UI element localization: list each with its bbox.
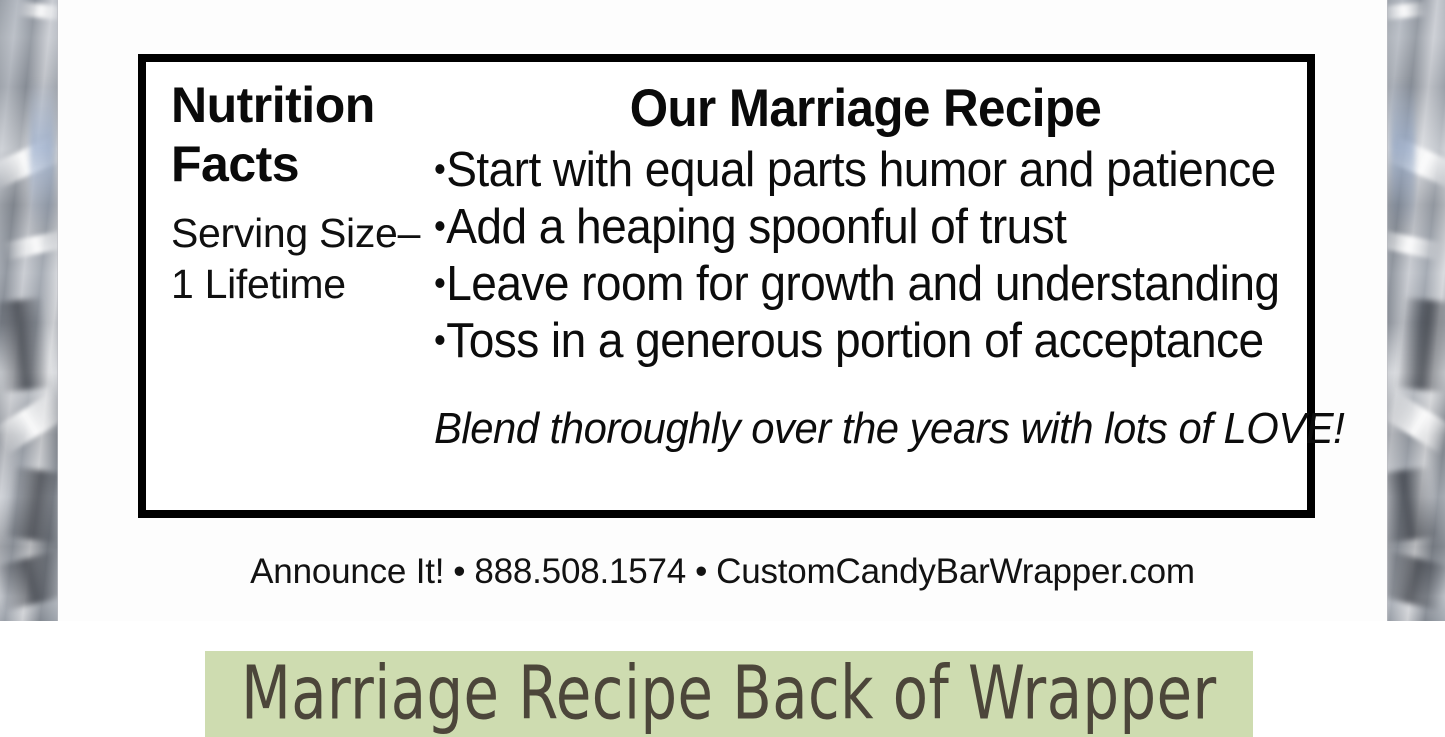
recipe-step-list: Start with equal parts humor and patienc… — [434, 141, 1297, 369]
wrapper-footer-line: Announce It!•888.508.1574•CustomCandyBar… — [58, 552, 1387, 592]
candy-bar-wrapper-photo: Nutrition Facts Serving Size– 1 Lifetime… — [0, 0, 1445, 621]
recipe-closing-line: Blend thoroughly over the years with lot… — [434, 407, 1254, 451]
recipe-step-item: Leave room for growth and understanding — [434, 255, 1245, 312]
foil-end-right — [1385, 0, 1445, 621]
footer-separator-2: • — [686, 552, 716, 591]
footer-separator-1: • — [444, 552, 474, 591]
recipe-step-item: Add a heaping spoonful of trust — [434, 198, 1245, 255]
footer-phone-number: 888.508.1574 — [474, 552, 686, 591]
footer-website-url: CustomCandyBarWrapper.com — [716, 552, 1195, 591]
serving-size-block: Serving Size– 1 Lifetime — [171, 208, 416, 310]
foil-blue-tint-left — [30, 80, 54, 230]
recipe-step-item: Start with equal parts humor and patienc… — [434, 141, 1245, 198]
wrapper-label-face: Nutrition Facts Serving Size– 1 Lifetime… — [58, 0, 1387, 621]
foil-blue-tint-right — [1391, 80, 1415, 230]
foil-shadow-left-1 — [0, 298, 53, 393]
serving-size-label: Serving Size– — [171, 208, 416, 259]
nutrition-facts-block: Nutrition Facts Serving Size– 1 Lifetime — [171, 76, 421, 310]
foil-shadow-left-2 — [3, 466, 60, 543]
marriage-recipe-block: Our Marriage Recipe Start with equal par… — [434, 82, 1297, 451]
footer-brand-name: Announce It! — [250, 552, 444, 591]
recipe-title: Our Marriage Recipe — [464, 82, 1267, 135]
foil-shadow-right-2 — [1385, 466, 1440, 543]
serving-size-value: 1 Lifetime — [171, 259, 416, 310]
nutrition-facts-title: Nutrition Facts — [171, 76, 396, 194]
recipe-step-item: Toss in a generous portion of acceptance — [434, 312, 1245, 369]
foil-end-left — [0, 0, 60, 621]
caption-bar: Marriage Recipe Back of Wrapper — [205, 651, 1253, 737]
recipe-border-box: Nutrition Facts Serving Size– 1 Lifetime… — [138, 54, 1315, 518]
caption-text: Marriage Recipe Back of Wrapper — [241, 657, 1217, 731]
foil-shadow-right-1 — [1394, 298, 1445, 393]
